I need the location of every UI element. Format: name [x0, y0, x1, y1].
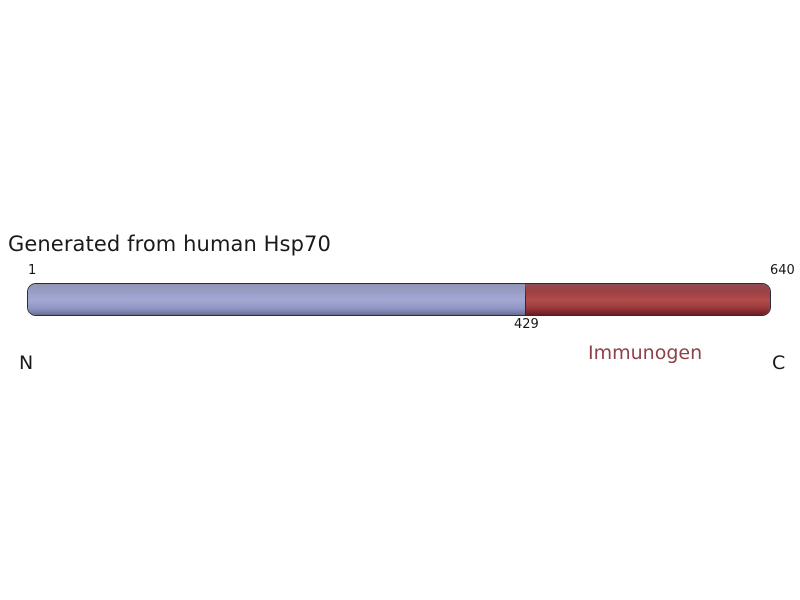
residue-start-label: 1 — [28, 263, 36, 278]
page-title: Generated from human Hsp70 — [8, 231, 331, 257]
protein-bar — [27, 283, 771, 316]
residue-boundary-label: 429 — [514, 317, 539, 332]
c-terminus-label: C — [772, 352, 785, 374]
n-terminus-label: N — [19, 352, 33, 374]
immunogen-segment — [525, 284, 770, 315]
protein-domain-figure: Generated from human Hsp70 1 640 429 N C… — [0, 0, 800, 600]
residue-end-label: 640 — [770, 263, 795, 278]
immunogen-region-label: Immunogen — [588, 342, 702, 364]
protein-backbone-segment — [28, 284, 525, 315]
